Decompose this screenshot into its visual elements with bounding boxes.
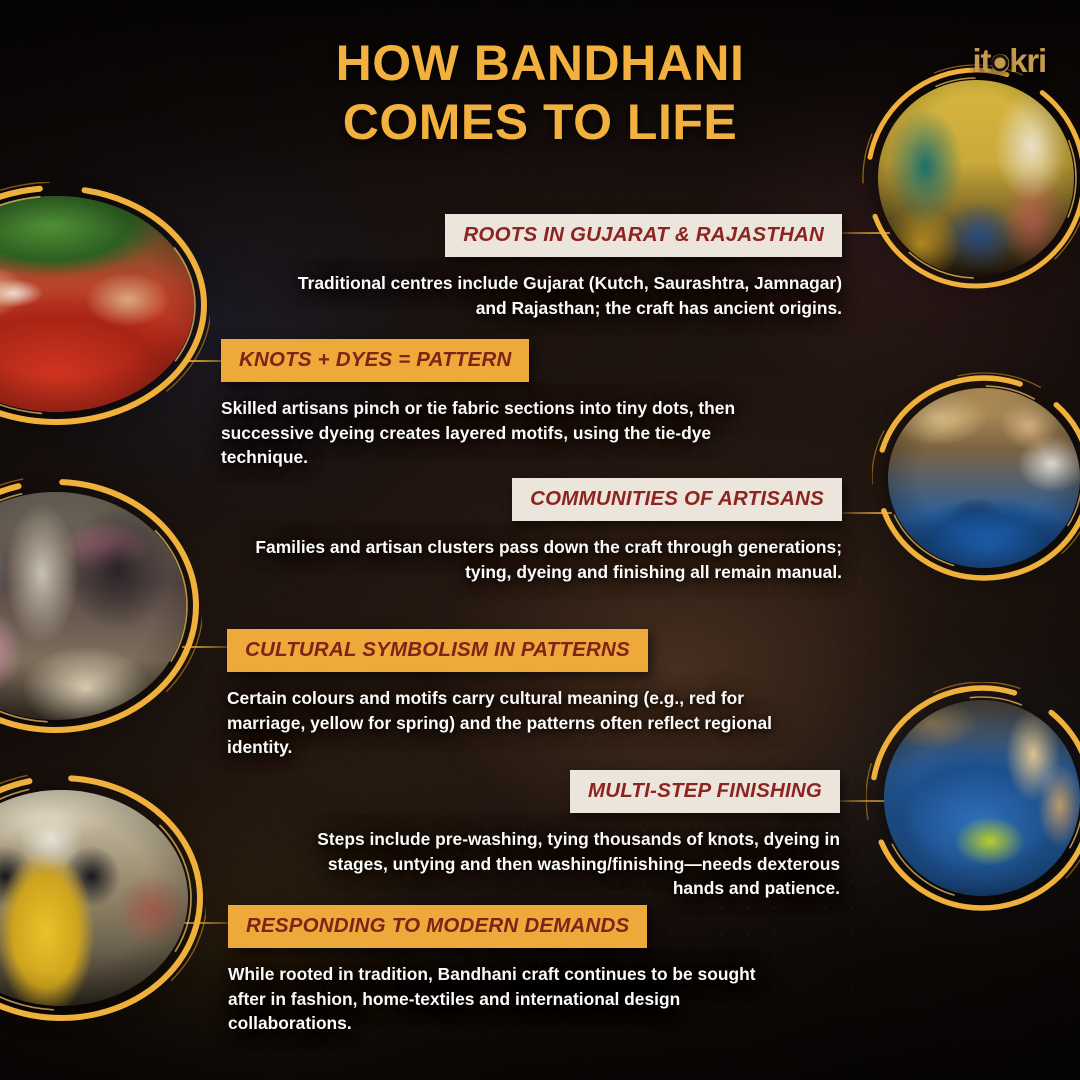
connector-line-6 [182, 922, 230, 924]
section-6-heading: RESPONDING TO MODERN DEMANDS [228, 905, 647, 948]
photo-woman-knotting-cloth-shading [0, 492, 186, 720]
photo-indigo-vat-shading [884, 700, 1080, 896]
section-6-body: While rooted in tradition, Bandhani craf… [228, 962, 788, 1036]
page-title: HOW BANDHANI COMES TO LIFE [0, 34, 1080, 151]
connector-line-4 [182, 646, 230, 648]
photo-woman-knotting-cloth [0, 492, 186, 720]
section-2-heading: KNOTS + DYES = PATTERN [221, 339, 529, 382]
photo-dyer-blue-tub-shading [888, 388, 1080, 568]
brand-logo-suffix: kri [1009, 42, 1046, 79]
page-title-line-1: HOW BANDHANI [0, 34, 1080, 93]
section-responding-to-modern-demands: RESPONDING TO MODERN DEMANDS While roote… [228, 905, 788, 1036]
photo-hands-tying-red-cloth [0, 196, 194, 412]
infographic-poster: HOW BANDHANI COMES TO LIFE itokri ROOTS … [0, 0, 1080, 1080]
brand-logo-prefix: it [973, 42, 991, 79]
photo-artisan-yellow-fabric-shading [0, 790, 188, 1006]
connector-line-3 [842, 512, 892, 514]
section-5-heading: MULTI-STEP FINISHING [570, 770, 840, 813]
section-roots-in-gujarat-rajasthan: ROOTS IN GUJARAT & RAJASTHAN Traditional… [276, 214, 842, 320]
brand-logo-ring-glyph: o [990, 42, 1009, 80]
connector-line-5 [840, 800, 890, 802]
section-1-heading: ROOTS IN GUJARAT & RAJASTHAN [445, 214, 842, 257]
section-3-body: Families and artisan clusters pass down … [240, 535, 842, 584]
page-title-line-2: COMES TO LIFE [0, 93, 1080, 152]
brand-logo-itokri[interactable]: itokri [973, 42, 1047, 80]
section-communities-of-artisans: COMMUNITIES OF ARTISANS Families and art… [240, 478, 842, 584]
photo-indigo-vat [884, 700, 1080, 896]
photo-hands-tying-red-cloth-shading [0, 196, 194, 412]
section-cultural-symbolism-in-patterns: CULTURAL SYMBOLISM IN PATTERNS Certain c… [227, 629, 772, 760]
section-4-heading: CULTURAL SYMBOLISM IN PATTERNS [227, 629, 648, 672]
photo-artisan-yellow-fabric [0, 790, 188, 1006]
section-5-body: Steps include pre-washing, tying thousan… [300, 827, 840, 901]
section-1-body: Traditional centres include Gujarat (Kut… [276, 271, 842, 320]
section-3-heading: COMMUNITIES OF ARTISANS [512, 478, 842, 521]
section-multi-step-finishing: MULTI-STEP FINISHING Steps include pre-w… [300, 770, 840, 901]
photo-dyer-blue-tub [888, 388, 1080, 568]
section-2-body: Skilled artisans pinch or tie fabric sec… [221, 396, 741, 470]
section-4-body: Certain colours and motifs carry cultura… [227, 686, 772, 760]
section-knots-dyes-pattern: KNOTS + DYES = PATTERN Skilled artisans … [221, 339, 741, 470]
